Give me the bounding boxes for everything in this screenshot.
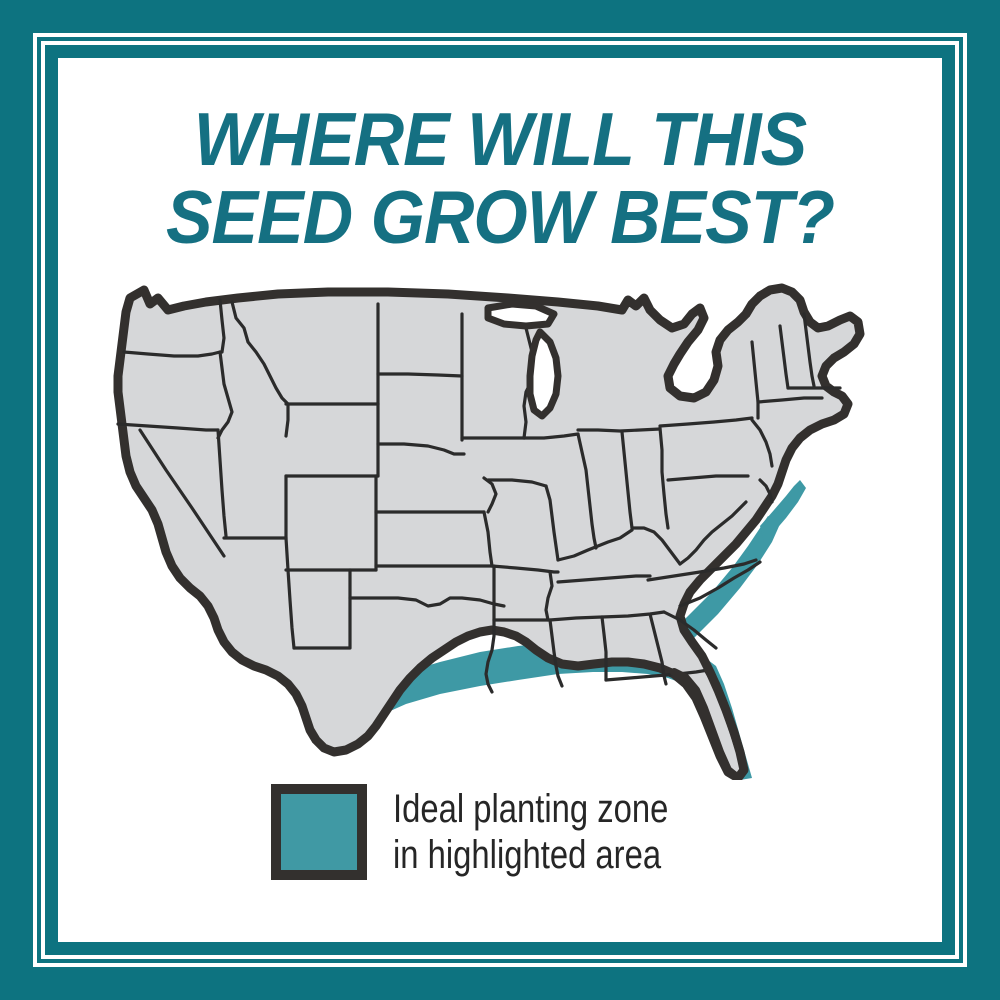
title-line-2: SEED GROW BEST? xyxy=(89,178,911,256)
poster-frame: WHERE WILL THIS SEED GROW BEST? xyxy=(0,0,1000,1000)
us-map xyxy=(88,280,912,780)
poster-content-area: WHERE WILL THIS SEED GROW BEST? xyxy=(58,58,942,942)
page-title: WHERE WILL THIS SEED GROW BEST? xyxy=(58,100,942,256)
title-line-1: WHERE WILL THIS xyxy=(89,100,911,178)
lake-superior-gap xyxy=(488,304,554,326)
lake-michigan xyxy=(530,332,558,416)
map-layers xyxy=(118,288,860,780)
legend-color-swatch xyxy=(271,784,367,880)
legend-label: Ideal planting zone in highlighted area xyxy=(393,786,668,878)
legend-label-line-2: in highlighted area xyxy=(393,832,668,878)
legend-label-line-1: Ideal planting zone xyxy=(393,786,668,832)
map-legend: Ideal planting zone in highlighted area xyxy=(58,784,942,880)
us-map-svg xyxy=(88,280,912,780)
